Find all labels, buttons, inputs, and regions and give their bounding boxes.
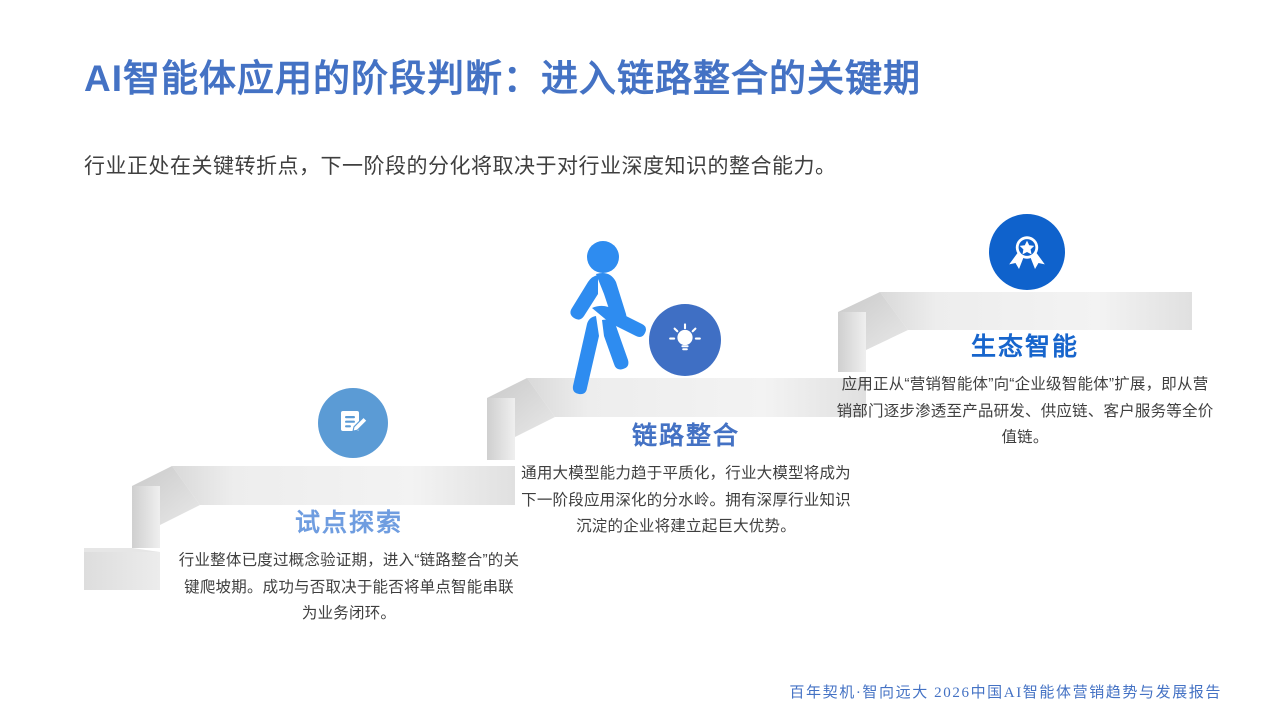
stage-1-body: 行业整体已度过概念验证期，进入“链路整合”的关键爬坡期。成功与否取决于能否将单点… bbox=[178, 548, 520, 628]
document-edit-icon bbox=[318, 388, 388, 458]
slide-canvas: AI智能体应用的阶段判断：进入链路整合的关键期 行业正处在关键转折点，下一阶段的… bbox=[0, 0, 1280, 720]
stage-1-group: 试点探索 行业整体已度过概念验证期，进入“链路整合”的关键爬坡期。成功与否取决于… bbox=[178, 503, 520, 628]
stair-base-strip bbox=[84, 548, 160, 590]
walking-person-icon bbox=[556, 238, 654, 404]
stage-3-heading: 生态智能 bbox=[836, 327, 1214, 363]
lightbulb-icon bbox=[649, 304, 721, 376]
award-medal-icon bbox=[989, 214, 1065, 290]
stage-2-group: 链路整合 通用大模型能力趋于平质化，行业大模型将成为下一阶段应用深化的分水岭。拥… bbox=[518, 416, 854, 541]
stage-3-body: 应用正从“营销智能体”向“企业级智能体”扩展，即从营销部门逐步渗透至产品研发、供… bbox=[836, 372, 1214, 452]
stage-3-group: 生态智能 应用正从“营销智能体”向“企业级智能体”扩展，即从营销部门逐步渗透至产… bbox=[836, 327, 1214, 452]
stage-2-body: 通用大模型能力趋于平质化，行业大模型将成为下一阶段应用深化的分水岭。拥有深厚行业… bbox=[518, 461, 854, 541]
stage-1-heading: 试点探索 bbox=[178, 503, 520, 539]
footer-branding: 百年契机·智向远大 2026中国AI智能体营销趋势与发展报告 bbox=[789, 681, 1222, 702]
stage-2-heading: 链路整合 bbox=[518, 416, 854, 452]
